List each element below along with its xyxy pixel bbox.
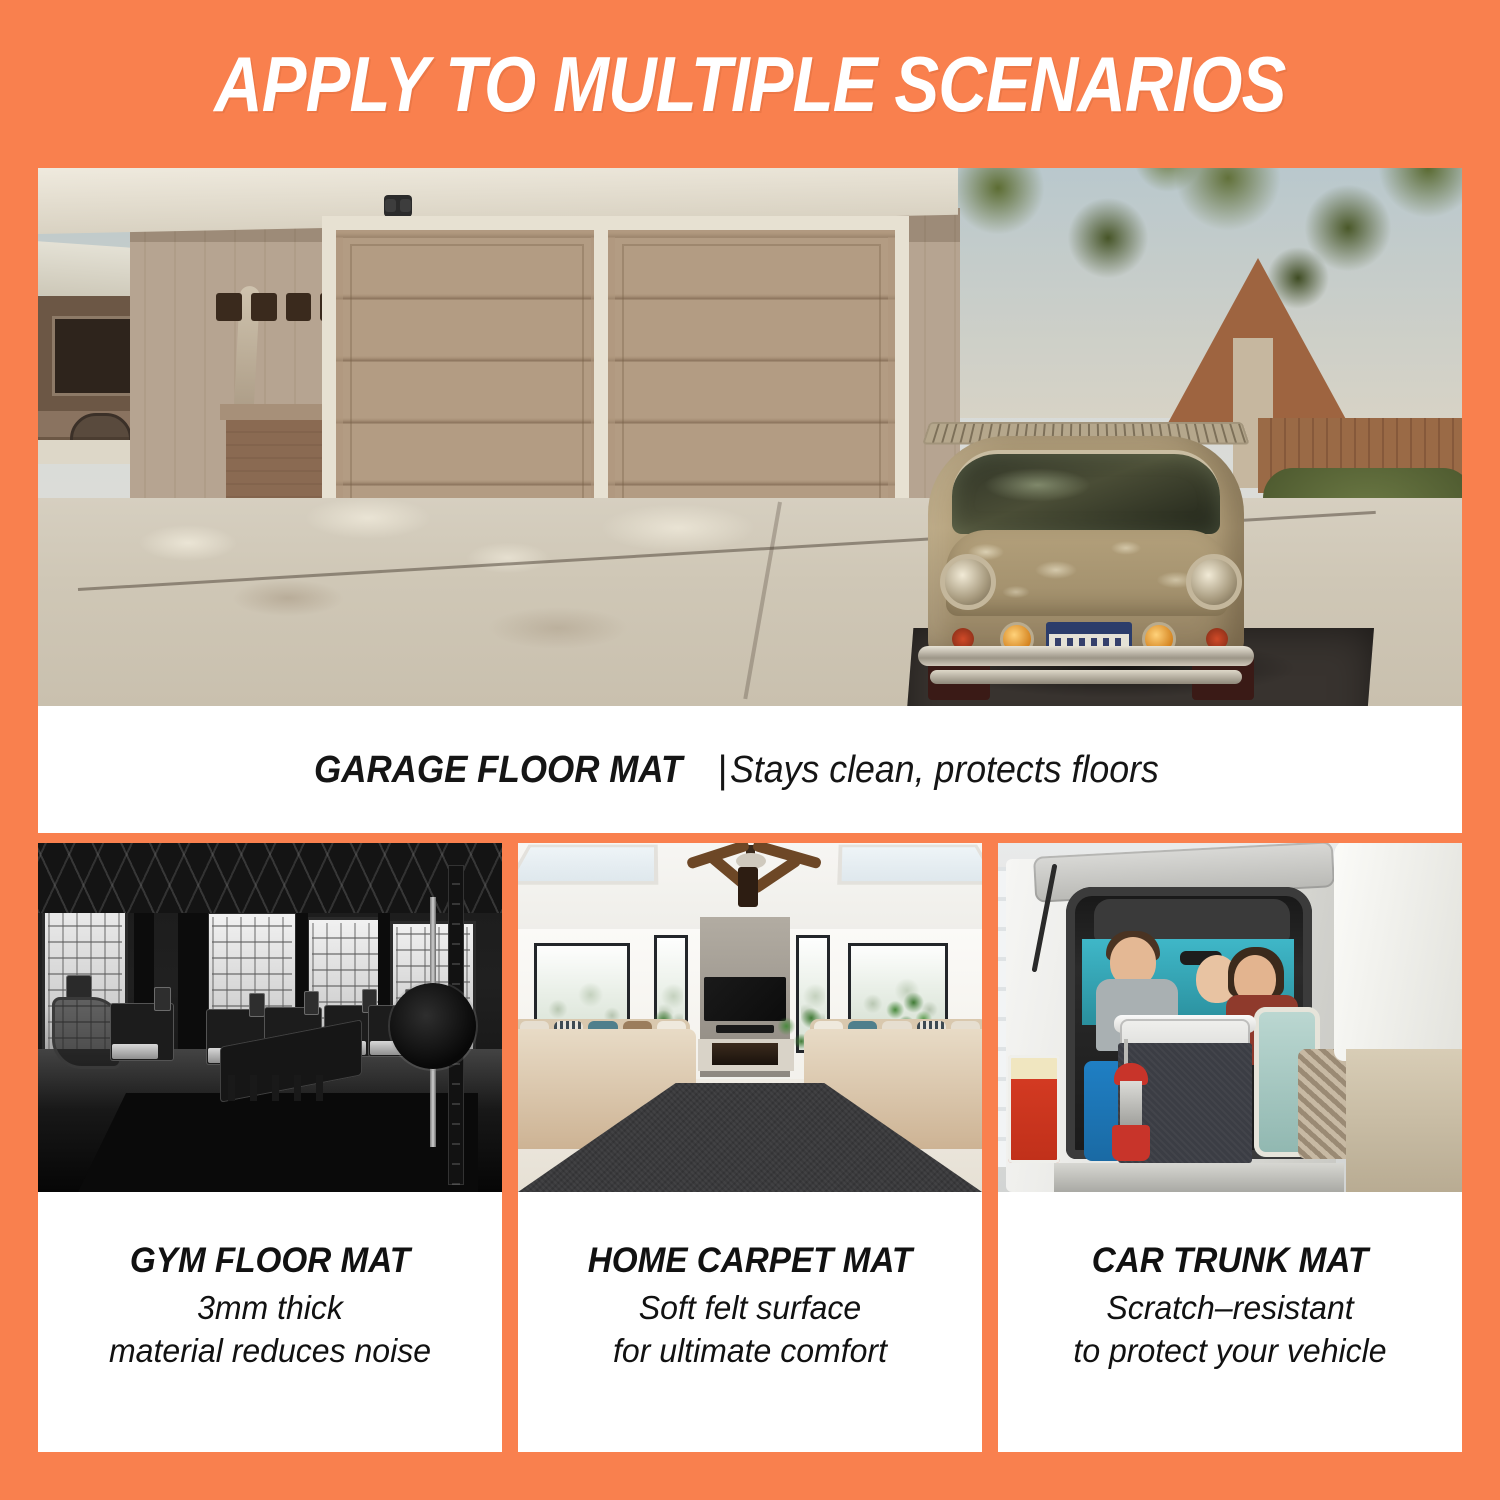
weight-bench-legs xyxy=(228,1075,338,1101)
header-band: APPLY TO MULTIPLE SCENARIOS xyxy=(0,0,1500,168)
rear-bumper xyxy=(1054,1163,1344,1192)
page-title: APPLY TO MULTIPLE SCENARIOS xyxy=(214,45,1285,123)
garage-door-left xyxy=(336,230,598,542)
headlight-left-icon xyxy=(940,554,996,610)
trunk-caption: CAR TRUNK MAT Scratch–resistant to prote… xyxy=(998,1192,1462,1452)
panel-car-trunk-mat: CAR TRUNK MAT Scratch–resistant to prote… xyxy=(998,843,1462,1452)
adult-pants xyxy=(1346,1049,1462,1192)
skylight-left xyxy=(518,845,658,885)
garage-door-right xyxy=(608,230,895,542)
hero-card-garage: GARAGE FLOOR MAT|Stays clean, protects f… xyxy=(38,168,1462,833)
vintage-car xyxy=(904,378,1284,706)
gym-scene-photo xyxy=(38,843,502,1192)
garage-scene-photo xyxy=(38,168,1462,706)
lantern-glass xyxy=(1120,1081,1142,1129)
hero-caption-text: Stays clean, protects floors xyxy=(730,751,1159,789)
panel-gym-floor-mat: GYM FLOOR MAT 3mm thick material reduces… xyxy=(38,843,502,1452)
home-scene-photo xyxy=(518,843,982,1192)
gym-caption-line1: 3mm thick xyxy=(45,1287,495,1330)
treadmill-1 xyxy=(110,1003,174,1061)
adult-shirt xyxy=(1334,843,1462,1061)
home-caption-title: HOME CARPET MAT xyxy=(530,1240,971,1281)
panel-home-carpet-mat: HOME CARPET MAT Soft felt surface for ul… xyxy=(518,843,982,1452)
home-caption-line2: for ultimate comfort xyxy=(525,1330,975,1373)
gym-caption-line2: material reduces noise xyxy=(45,1330,495,1373)
soundbar xyxy=(716,1025,774,1033)
weight-plate xyxy=(390,983,476,1069)
trunk-caption-line1: Scratch–resistant xyxy=(1005,1287,1455,1330)
home-caption-line1: Soft felt surface xyxy=(525,1287,975,1330)
ceiling-fan-body xyxy=(738,867,758,907)
skylight-right xyxy=(837,845,982,885)
home-caption: HOME CARPET MAT Soft felt surface for ul… xyxy=(518,1192,982,1452)
gym-caption: GYM FLOOR MAT 3mm thick material reduces… xyxy=(38,1192,502,1452)
hero-caption-title: GARAGE FLOOR MAT xyxy=(314,751,682,789)
gym-caption-title: GYM FLOOR MAT xyxy=(50,1240,491,1281)
car-windshield xyxy=(952,450,1220,534)
fireplace-firebox xyxy=(712,1043,778,1065)
security-light-icon xyxy=(384,195,412,217)
lantern-base xyxy=(1112,1125,1150,1161)
hero-caption-bar: GARAGE FLOOR MAT|Stays clean, protects f… xyxy=(38,706,1462,833)
gym-floor-mat xyxy=(78,1093,478,1192)
trunk-caption-line2: to protect your vehicle xyxy=(1005,1330,1455,1373)
car-bumper xyxy=(918,646,1254,666)
tail-light-icon xyxy=(1008,1055,1060,1163)
trunk-caption-title: CAR TRUNK MAT xyxy=(1010,1240,1451,1281)
hero-caption-separator: | xyxy=(714,749,730,791)
car-bumper-lower xyxy=(930,670,1242,684)
headlight-right-icon xyxy=(1186,554,1242,610)
hero-caption: GARAGE FLOOR MAT|Stays clean, protects f… xyxy=(314,751,1186,789)
trunk-scene-photo xyxy=(998,843,1462,1192)
